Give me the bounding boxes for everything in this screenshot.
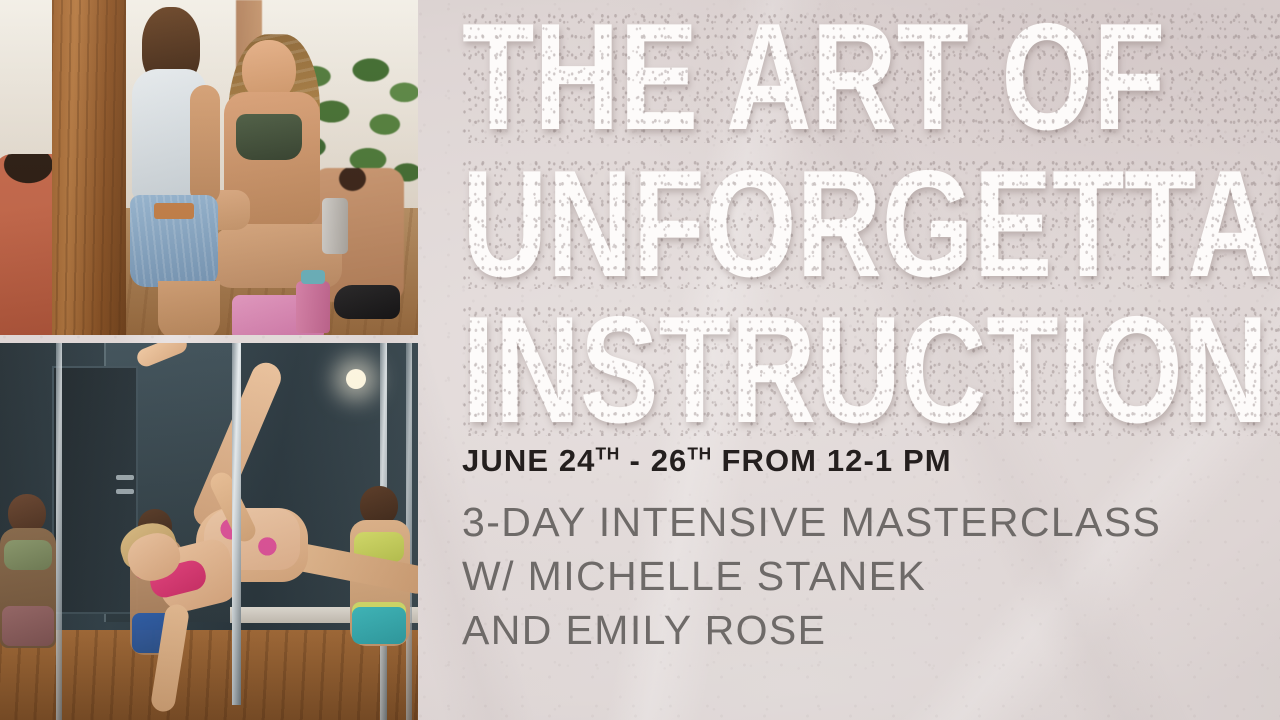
promo-poster: THE ART OF UNFORGETTABLE INSTRUCTION JUN… [0, 0, 1280, 720]
photo-top-wooden-post [52, 0, 126, 335]
photo-top-student [124, 7, 220, 335]
photo-bottom-pole-main [232, 343, 241, 705]
subtitle-line-2: W/ MICHELLE STANEK [462, 549, 1161, 603]
photo-column [0, 0, 418, 720]
date-day-end: 26 [651, 443, 688, 478]
date-day-start: 24 [559, 443, 596, 478]
photo-top-steel-bottle [322, 198, 348, 254]
subtitle-block: 3-DAY INTENSIVE MASTERCLASS W/ MICHELLE … [462, 495, 1161, 657]
event-date-line: JUNE 24TH - 26TH FROM 12-1 PM [462, 443, 952, 479]
headline-block: THE ART OF UNFORGETTABLE INSTRUCTION [462, 12, 1280, 436]
subtitle-line-3: AND EMILY ROSE [462, 603, 1161, 657]
subtitle-line-1: 3-DAY INTENSIVE MASTERCLASS [462, 495, 1161, 549]
workshop-conversation-photo [0, 0, 418, 335]
headline-line-3: INSTRUCTION [462, 305, 1280, 436]
headline-line-1: THE ART OF [462, 12, 1280, 143]
photo-top-pink-bottle [296, 281, 330, 333]
date-separator: - [620, 443, 651, 478]
headline-line-2: UNFORGETTABLE [462, 159, 1280, 290]
pole-performance-photo [0, 343, 418, 720]
text-panel: THE ART OF UNFORGETTABLE INSTRUCTION JUN… [462, 0, 1280, 720]
photo-top-sandal [334, 285, 400, 319]
date-time: FROM 12-1 PM [712, 443, 952, 478]
date-ordinal-start: TH [596, 444, 620, 464]
date-ordinal-end: TH [687, 444, 711, 464]
photo-bottom-pole-performer [92, 358, 360, 660]
photo-bottom-watcher-left [0, 494, 62, 720]
date-month: JUNE [462, 443, 559, 478]
